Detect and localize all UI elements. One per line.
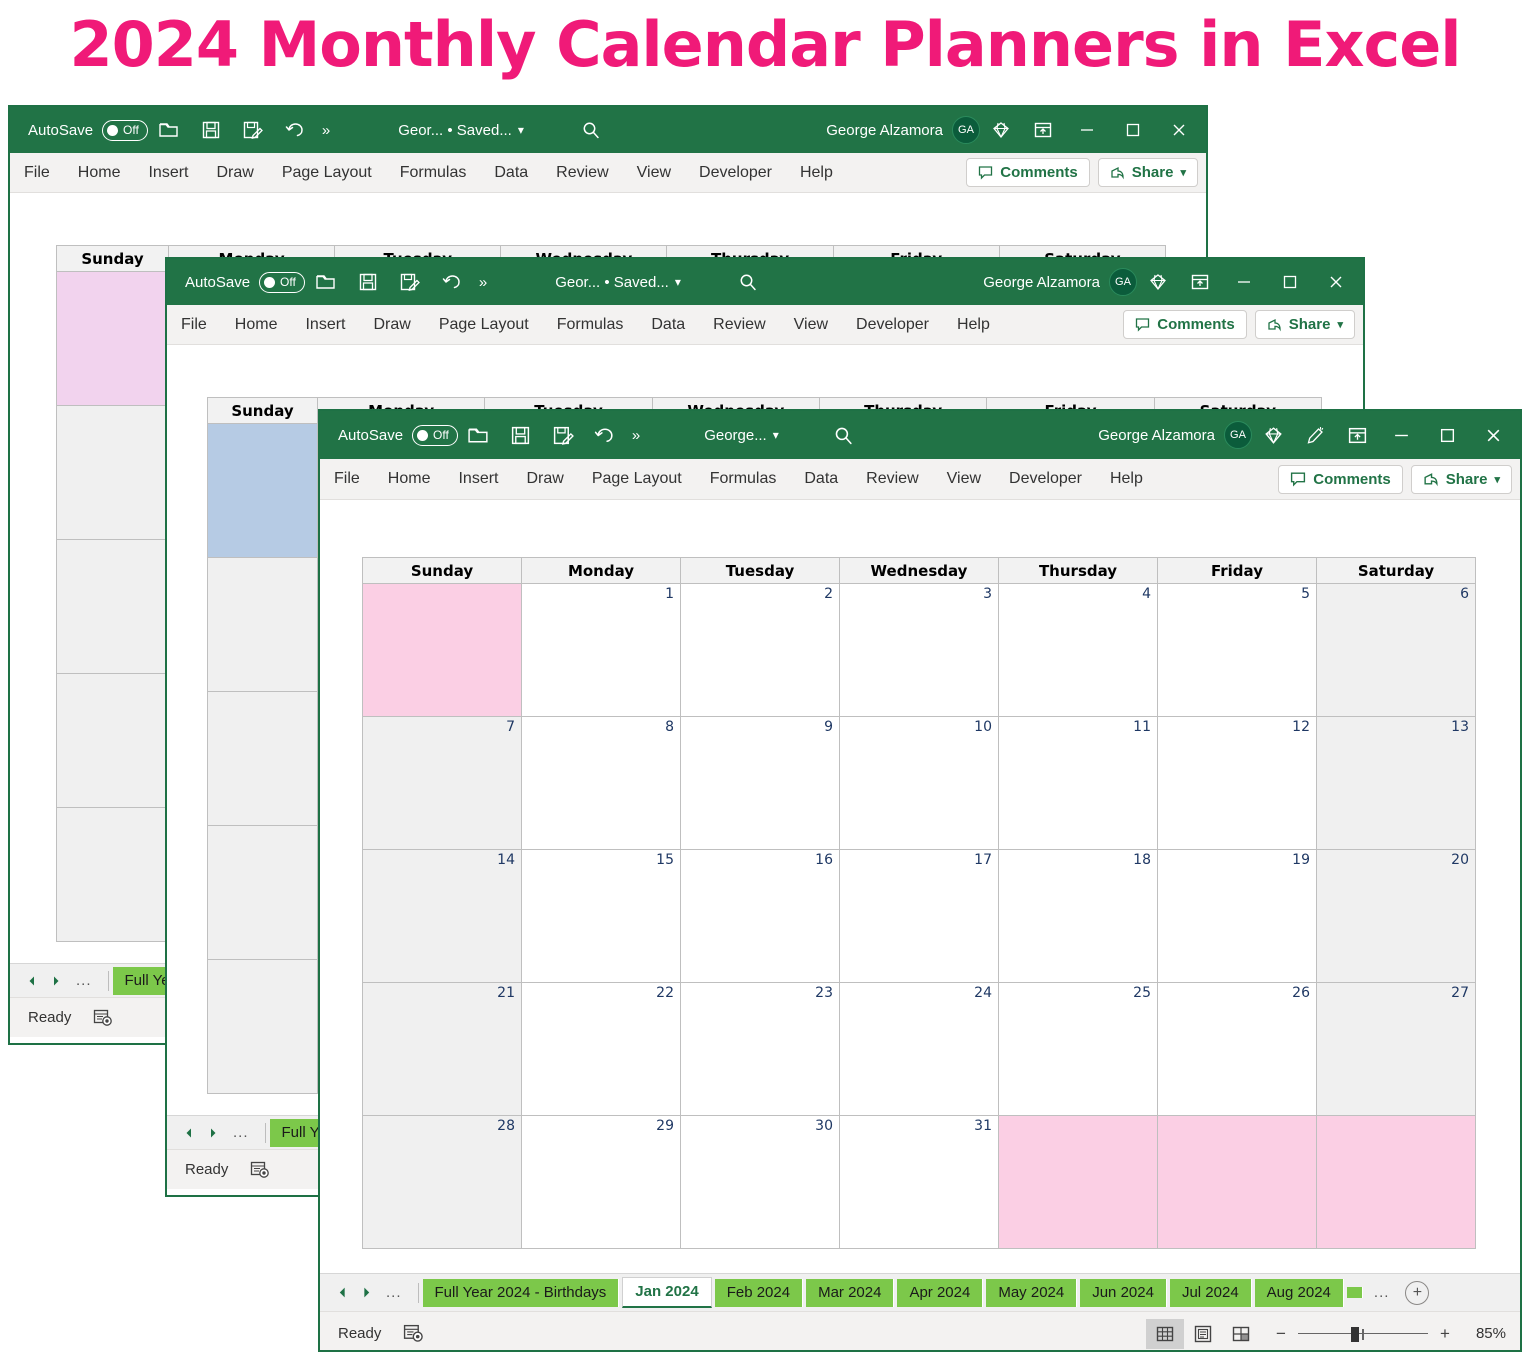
weekday-wednesday: Wednesday bbox=[840, 558, 999, 584]
january-window[interactable]: AutoSave Off bbox=[318, 409, 1522, 1352]
user-name: George Alzamora bbox=[826, 122, 952, 139]
ribbon-tab-help[interactable]: Help bbox=[943, 317, 1004, 333]
sheet-tabs-list: Full Year 2024 - BirthdaysJan 2024Feb 20… bbox=[423, 1277, 1347, 1308]
calendar-cell[interactable] bbox=[57, 808, 169, 942]
calendar-row: 123456 bbox=[363, 584, 1476, 717]
status-bar-right: − + 85% bbox=[1146, 1319, 1520, 1349]
calendar-day-cell[interactable]: 6 bbox=[1317, 584, 1476, 717]
ribbon-display-options-icon[interactable] bbox=[1022, 113, 1064, 147]
open-folder-icon[interactable] bbox=[148, 113, 190, 147]
month-banner: January 2024 bbox=[362, 509, 1476, 557]
autosave-label: AutoSave bbox=[185, 274, 250, 291]
status-ready-label: Ready bbox=[167, 1161, 228, 1178]
ribbon-right-actions: Comments Share ▾ bbox=[1278, 465, 1520, 494]
calendar-cell[interactable] bbox=[208, 558, 318, 692]
sheet-tab[interactable]: Mar 2024 bbox=[806, 1279, 894, 1307]
search-icon[interactable] bbox=[823, 418, 865, 452]
calendar-day-cell[interactable]: 28 bbox=[363, 1116, 522, 1249]
ribbon-tab-review[interactable]: Review bbox=[542, 165, 622, 181]
ribbon-tab-file[interactable]: File bbox=[10, 165, 64, 181]
comments-button[interactable]: Comments bbox=[966, 158, 1090, 187]
calendar-cell[interactable] bbox=[57, 406, 169, 540]
calendar-body: 1234567891011121314151617181920212223242… bbox=[363, 584, 1476, 1249]
share-button[interactable]: Share ▾ bbox=[1098, 158, 1198, 187]
calendar-row: 14151617181920 bbox=[363, 850, 1476, 983]
sheet-tab-bar[interactable]: ... Full Year 2024 - BirthdaysJan 2024Fe… bbox=[320, 1273, 1520, 1311]
sheet-nav-arrows[interactable]: ... bbox=[320, 1280, 414, 1306]
diamond-icon[interactable] bbox=[1137, 265, 1179, 299]
ribbon-right-actions: Comments Share ▾ bbox=[1123, 310, 1363, 339]
document-title: Geor... • Saved... bbox=[398, 122, 512, 139]
draw-pen-icon[interactable] bbox=[1294, 418, 1336, 452]
calendar-day-cell[interactable]: 21 bbox=[363, 983, 522, 1116]
calendar-day-cell[interactable]: 23 bbox=[681, 983, 840, 1116]
share-icon bbox=[1423, 471, 1439, 487]
ribbon-right-actions: Comments Share ▾ bbox=[966, 158, 1206, 187]
share-label: Share bbox=[1289, 316, 1331, 333]
screenshot-root: 2024 Monthly Calendar Planners in Excel … bbox=[0, 0, 1530, 1360]
accessibility-checker-icon[interactable] bbox=[71, 1009, 113, 1027]
quick-access-toolbar[interactable]: » bbox=[305, 265, 493, 299]
autosave-state: Off bbox=[123, 123, 139, 137]
calendar-day-cell[interactable]: 19 bbox=[1158, 850, 1317, 983]
ribbon-display-options-icon[interactable] bbox=[1179, 265, 1221, 299]
save-as-icon[interactable] bbox=[389, 265, 431, 299]
ribbon-tab-page-layout[interactable]: Page Layout bbox=[425, 317, 543, 333]
titlebar-right: George Alzamora GA bbox=[983, 265, 1363, 299]
titlebar-left: AutoSave Off bbox=[320, 418, 646, 452]
status-ready-label: Ready bbox=[10, 1009, 71, 1026]
titlebar: AutoSave Off bbox=[320, 411, 1520, 459]
calendar-day-cell[interactable]: 3 bbox=[840, 584, 999, 717]
accessibility-checker-icon[interactable] bbox=[228, 1161, 270, 1179]
ribbon-display-options-icon[interactable] bbox=[1336, 418, 1378, 452]
more-commands-icon[interactable]: » bbox=[626, 427, 646, 444]
ribbon-tab-developer[interactable]: Developer bbox=[685, 165, 786, 181]
sheet-nav-arrows[interactable]: ... bbox=[10, 968, 104, 994]
sheet-tab[interactable]: Full Year 2024 - Birthdays bbox=[423, 1279, 620, 1307]
comments-label: Comments bbox=[1313, 471, 1391, 488]
tab-separator bbox=[265, 1123, 266, 1143]
chevron-down-icon[interactable]: ▾ bbox=[773, 428, 779, 442]
sheet-tab[interactable]: Jun 2024 bbox=[1080, 1279, 1167, 1307]
calendar-day-cell[interactable]: 13 bbox=[1317, 717, 1476, 850]
sheet-nav-arrows[interactable]: ... bbox=[167, 1120, 261, 1146]
maximize-button[interactable] bbox=[1424, 418, 1470, 452]
weekday-tuesday: Tuesday bbox=[681, 558, 840, 584]
month-name: March bbox=[504, 202, 620, 242]
save-as-icon[interactable] bbox=[232, 113, 274, 147]
autosave-group[interactable]: AutoSave Off bbox=[10, 120, 148, 141]
ribbon-tab-developer[interactable]: Developer bbox=[995, 471, 1096, 487]
search-icon[interactable] bbox=[570, 113, 612, 147]
sheet-tab[interactable]: Jan 2024 bbox=[622, 1277, 711, 1308]
ribbon-tab-file[interactable]: File bbox=[320, 471, 374, 487]
calendar-day-cell[interactable]: 24 bbox=[840, 983, 999, 1116]
comments-button[interactable]: Comments bbox=[1123, 310, 1247, 339]
sheet-nav-next-icon[interactable] bbox=[44, 968, 68, 994]
ribbon-tab-view[interactable]: View bbox=[780, 317, 842, 333]
share-icon bbox=[1267, 317, 1282, 332]
avatar[interactable]: GA bbox=[1109, 268, 1137, 296]
zoom-slider-midpoint bbox=[1362, 1329, 1364, 1340]
calendar-grid[interactable]: Sunday Monday Tuesday Wednesday Thursday… bbox=[362, 557, 1476, 1249]
titlebar-left: AutoSave Off bbox=[10, 113, 336, 147]
ribbon-tab-help[interactable]: Help bbox=[1096, 471, 1157, 487]
calendar-row: 21222324252627 bbox=[363, 983, 1476, 1116]
quick-access-toolbar[interactable]: » bbox=[148, 113, 336, 147]
chevron-down-icon[interactable]: ▾ bbox=[1180, 166, 1186, 179]
document-title: George... bbox=[704, 427, 767, 444]
comment-icon bbox=[1135, 317, 1150, 332]
calendar-day-cell[interactable]: 22 bbox=[522, 983, 681, 1116]
document-title: Geor... • Saved... bbox=[555, 274, 669, 291]
sheet-tab-partial[interactable] bbox=[1347, 1287, 1363, 1298]
calendar-cell[interactable] bbox=[57, 674, 169, 808]
weekday-header-row: Sunday Monday Tuesday Wednesday Thursday… bbox=[363, 558, 1476, 584]
titlebar-left: AutoSave Off bbox=[167, 265, 493, 299]
document-title-group[interactable]: Geor... • Saved... ▾ bbox=[398, 122, 524, 139]
ribbon-tab-insert[interactable]: Insert bbox=[291, 317, 359, 333]
calendar-day-cell[interactable]: 2 bbox=[681, 584, 840, 717]
calendar-day-cell[interactable] bbox=[1317, 1116, 1476, 1249]
close-button[interactable] bbox=[1313, 265, 1359, 299]
sheet-area: January 2024 Sunday Monday Tuesday Wedne… bbox=[320, 500, 1520, 1273]
search-icon[interactable] bbox=[727, 265, 769, 299]
weekday-sunday: Sunday bbox=[57, 246, 169, 272]
diamond-icon[interactable] bbox=[980, 113, 1022, 147]
undo-icon[interactable] bbox=[431, 265, 473, 299]
status-bar: Ready − bbox=[320, 1311, 1520, 1352]
calendar-day-cell[interactable]: 7 bbox=[363, 717, 522, 850]
ribbon-tab-formulas[interactable]: Formulas bbox=[696, 471, 791, 487]
calendar-day-cell[interactable]: 15 bbox=[522, 850, 681, 983]
calendar-day-cell[interactable]: 31 bbox=[840, 1116, 999, 1249]
ribbon-tab-draw[interactable]: Draw bbox=[359, 317, 424, 333]
ribbon-tab-data[interactable]: Data bbox=[637, 317, 699, 333]
tab-separator bbox=[108, 971, 109, 991]
comments-button[interactable]: Comments bbox=[1278, 465, 1403, 494]
zoom-percentage[interactable]: 85% bbox=[1462, 1325, 1506, 1342]
ribbon-tab-view[interactable]: View bbox=[933, 471, 995, 487]
user-name: George Alzamora bbox=[983, 274, 1109, 291]
comment-icon bbox=[1290, 471, 1306, 487]
chevron-down-icon[interactable]: ▾ bbox=[1494, 473, 1500, 486]
calendar-day-cell[interactable]: 18 bbox=[999, 850, 1158, 983]
autosave-group[interactable]: AutoSave Off bbox=[320, 425, 458, 446]
avatar[interactable]: GA bbox=[952, 116, 980, 144]
calendar-cell[interactable] bbox=[208, 424, 318, 558]
toggle-knob bbox=[264, 277, 275, 288]
accessibility-checker-icon[interactable] bbox=[381, 1324, 424, 1343]
calendar-day-cell[interactable]: 17 bbox=[840, 850, 999, 983]
weekday-saturday: Saturday bbox=[1317, 558, 1476, 584]
month-year: 2024 bbox=[806, 354, 895, 394]
document-title-group[interactable]: Geor... • Saved... ▾ bbox=[555, 274, 681, 291]
ribbon-tab-page-layout[interactable]: Page Layout bbox=[578, 471, 696, 487]
sheet-nav-next-icon[interactable] bbox=[354, 1280, 378, 1306]
weekday-thursday: Thursday bbox=[999, 558, 1158, 584]
share-button[interactable]: Share ▾ bbox=[1255, 310, 1355, 339]
sheet-tab[interactable]: May 2024 bbox=[986, 1279, 1077, 1307]
ribbon-tab-data[interactable]: Data bbox=[480, 165, 542, 181]
ribbon-tab-home[interactable]: Home bbox=[221, 317, 292, 333]
calendar-day-cell[interactable]: 1 bbox=[522, 584, 681, 717]
zoom-in-button[interactable]: + bbox=[1438, 1324, 1452, 1344]
save-icon[interactable] bbox=[500, 418, 542, 452]
calendar-day-cell[interactable] bbox=[363, 584, 522, 717]
autosave-toggle[interactable]: Off bbox=[102, 120, 148, 141]
toggle-knob bbox=[417, 430, 428, 441]
calendar-day-cell[interactable]: 20 bbox=[1317, 850, 1476, 983]
ribbon-tab-home[interactable]: Home bbox=[64, 165, 135, 181]
month-year: 2024 bbox=[629, 202, 718, 242]
sheet-tab[interactable]: Apr 2024 bbox=[897, 1279, 983, 1307]
month-name: January bbox=[791, 511, 940, 555]
calendar-day-cell[interactable]: 4 bbox=[999, 584, 1158, 717]
zoom-slider[interactable] bbox=[1298, 1327, 1428, 1341]
titlebar: AutoSave Off bbox=[10, 107, 1206, 153]
ribbon-tabs[interactable]: File Home Insert Draw Page Layout Formul… bbox=[320, 459, 1520, 500]
undo-icon[interactable] bbox=[584, 418, 626, 452]
calendar-row: 78910111213 bbox=[363, 717, 1476, 850]
chevron-down-icon[interactable]: ▾ bbox=[518, 123, 524, 137]
quick-access-toolbar[interactable]: » bbox=[458, 418, 646, 452]
calendar-cell[interactable] bbox=[208, 960, 318, 1094]
calendar-day-cell[interactable] bbox=[1158, 1116, 1317, 1249]
minimize-button[interactable] bbox=[1064, 113, 1110, 147]
ribbon-tab-page-layout[interactable]: Page Layout bbox=[268, 165, 386, 181]
month-year: 2024 bbox=[950, 511, 1047, 555]
close-button[interactable] bbox=[1470, 418, 1516, 452]
toggle-knob bbox=[107, 125, 118, 136]
share-button[interactable]: Share ▾ bbox=[1411, 465, 1512, 494]
ribbon-tab-draw[interactable]: Draw bbox=[202, 165, 267, 181]
autosave-state: Off bbox=[433, 428, 449, 442]
sheet-nav-ellipsis[interactable]: ... bbox=[68, 972, 100, 989]
sheet-nav-next-icon[interactable] bbox=[201, 1120, 225, 1146]
minimize-button[interactable] bbox=[1378, 418, 1424, 452]
open-folder-icon[interactable] bbox=[305, 265, 347, 299]
month-banner: March 2024 bbox=[56, 199, 1166, 245]
status-ready-label: Ready bbox=[320, 1325, 381, 1342]
autosave-label: AutoSave bbox=[28, 122, 93, 139]
minimize-button[interactable] bbox=[1221, 265, 1267, 299]
ribbon-tabs[interactable]: File Home Insert Draw Page Layout Formul… bbox=[10, 153, 1206, 193]
user-name: George Alzamora bbox=[1098, 427, 1224, 444]
calendar-day-cell[interactable]: 16 bbox=[681, 850, 840, 983]
page-layout-view-button[interactable] bbox=[1184, 1319, 1222, 1349]
titlebar-right: George Alzamora GA bbox=[826, 113, 1206, 147]
sheet-nav-ellipsis[interactable]: ... bbox=[378, 1284, 410, 1301]
tab-separator bbox=[418, 1283, 419, 1303]
calendar-row: 28293031 bbox=[363, 1116, 1476, 1249]
calendar-day-cell[interactable]: 8 bbox=[522, 717, 681, 850]
share-label: Share bbox=[1446, 471, 1488, 488]
sheet-tab[interactable]: Feb 2024 bbox=[715, 1279, 803, 1307]
calendar-day-cell[interactable]: 25 bbox=[999, 983, 1158, 1116]
share-label: Share bbox=[1132, 164, 1174, 181]
diamond-icon[interactable] bbox=[1252, 418, 1294, 452]
weekday-sunday: Sunday bbox=[208, 398, 318, 424]
calendar-day-cell[interactable]: 5 bbox=[1158, 584, 1317, 717]
comments-label: Comments bbox=[1157, 316, 1235, 333]
ribbon-tab-formulas[interactable]: Formulas bbox=[386, 165, 481, 181]
weekday-friday: Friday bbox=[1158, 558, 1317, 584]
autosave-label: AutoSave bbox=[338, 427, 403, 444]
sheet-nav-ellipsis[interactable]: ... bbox=[225, 1124, 257, 1141]
month-name: February bbox=[634, 354, 796, 394]
open-folder-icon[interactable] bbox=[458, 418, 500, 452]
titlebar-right: George Alzamora GA bbox=[1098, 418, 1520, 452]
maximize-button[interactable] bbox=[1267, 265, 1313, 299]
calendar-day-cell[interactable]: 27 bbox=[1317, 983, 1476, 1116]
zoom-out-button[interactable]: − bbox=[1274, 1324, 1288, 1344]
sheet-nav-prev-icon[interactable] bbox=[330, 1280, 354, 1306]
ribbon-tab-developer[interactable]: Developer bbox=[842, 317, 943, 333]
sheet-tab[interactable]: Jul 2024 bbox=[1170, 1279, 1252, 1307]
titlebar: AutoSave Off bbox=[167, 259, 1363, 305]
calendar-day-cell[interactable]: 30 bbox=[681, 1116, 840, 1249]
zoom-control[interactable]: − + 85% bbox=[1260, 1324, 1506, 1344]
calendar-day-cell[interactable] bbox=[999, 1116, 1158, 1249]
comments-label: Comments bbox=[1000, 164, 1078, 181]
ribbon-tab-view[interactable]: View bbox=[623, 165, 685, 181]
ribbon-tab-review[interactable]: Review bbox=[699, 317, 779, 333]
save-icon[interactable] bbox=[190, 113, 232, 147]
sheet-nav-prev-icon[interactable] bbox=[20, 968, 44, 994]
ribbon-tab-draw[interactable]: Draw bbox=[512, 471, 577, 487]
zoom-slider-thumb[interactable] bbox=[1351, 1327, 1359, 1342]
save-as-icon[interactable] bbox=[542, 418, 584, 452]
ribbon-tab-insert[interactable]: Insert bbox=[444, 471, 512, 487]
avatar[interactable]: GA bbox=[1224, 421, 1252, 449]
sheet-tab[interactable]: Aug 2024 bbox=[1255, 1279, 1344, 1307]
autosave-state: Off bbox=[280, 275, 296, 289]
ribbon-tab-home[interactable]: Home bbox=[374, 471, 445, 487]
page-break-preview-button[interactable] bbox=[1222, 1319, 1260, 1349]
calendar-day-cell[interactable]: 14 bbox=[363, 850, 522, 983]
calendar-day-cell[interactable]: 11 bbox=[999, 717, 1158, 850]
chevron-down-icon[interactable]: ▾ bbox=[1337, 318, 1343, 331]
share-icon bbox=[1110, 165, 1125, 180]
ribbon-tab-formulas[interactable]: Formulas bbox=[543, 317, 638, 333]
normal-view-button[interactable] bbox=[1146, 1319, 1184, 1349]
ribbon-tab-insert[interactable]: Insert bbox=[134, 165, 202, 181]
month-banner: February 2024 bbox=[207, 351, 1322, 397]
maximize-button[interactable] bbox=[1110, 113, 1156, 147]
calendar-cell[interactable] bbox=[57, 540, 169, 674]
ribbon-tab-file[interactable]: File bbox=[167, 317, 221, 333]
weekday-sunday: Sunday bbox=[363, 558, 522, 584]
ribbon-tabs[interactable]: File Home Insert Draw Page Layout Formul… bbox=[167, 305, 1363, 345]
calendar-day-cell[interactable]: 12 bbox=[1158, 717, 1317, 850]
weekday-monday: Monday bbox=[522, 558, 681, 584]
calendar-cell[interactable] bbox=[57, 272, 169, 406]
autosave-group[interactable]: AutoSave Off bbox=[167, 272, 305, 293]
calendar-cell[interactable] bbox=[208, 692, 318, 826]
add-sheet-button[interactable]: + bbox=[1405, 1281, 1429, 1305]
page-title: 2024 Monthly Calendar Planners in Excel bbox=[0, 8, 1530, 81]
comment-icon bbox=[978, 165, 993, 180]
sheet-tabs-overflow-ellipsis[interactable]: ... bbox=[1366, 1284, 1398, 1301]
save-icon[interactable] bbox=[347, 265, 389, 299]
ribbon-tab-help[interactable]: Help bbox=[786, 165, 847, 181]
calendar-day-cell[interactable]: 10 bbox=[840, 717, 999, 850]
ribbon-tab-review[interactable]: Review bbox=[852, 471, 932, 487]
ribbon-tab-data[interactable]: Data bbox=[790, 471, 852, 487]
autosave-toggle[interactable]: Off bbox=[259, 272, 305, 293]
autosave-toggle[interactable]: Off bbox=[412, 425, 458, 446]
close-button[interactable] bbox=[1156, 113, 1202, 147]
calendar-day-cell[interactable]: 29 bbox=[522, 1116, 681, 1249]
calendar-day-cell[interactable]: 26 bbox=[1158, 983, 1317, 1116]
calendar-cell[interactable] bbox=[208, 826, 318, 960]
more-commands-icon[interactable]: » bbox=[316, 122, 336, 139]
more-commands-icon[interactable]: » bbox=[473, 274, 493, 291]
chevron-down-icon[interactable]: ▾ bbox=[675, 275, 681, 289]
sheet-nav-prev-icon[interactable] bbox=[177, 1120, 201, 1146]
document-title-group[interactable]: George... ▾ bbox=[704, 427, 779, 444]
undo-icon[interactable] bbox=[274, 113, 316, 147]
calendar-day-cell[interactable]: 9 bbox=[681, 717, 840, 850]
